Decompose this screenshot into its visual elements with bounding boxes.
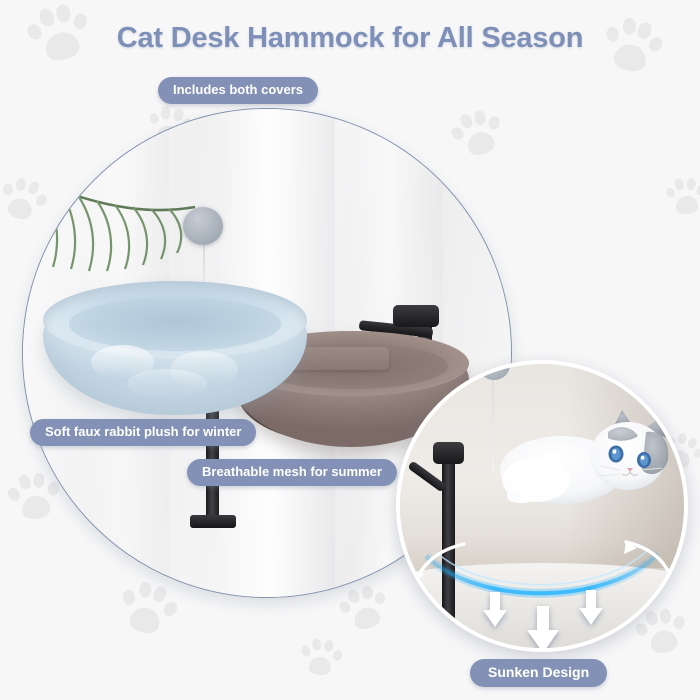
badge-sunken-design: Sunken Design xyxy=(470,659,607,687)
hammock-clamp-right xyxy=(393,305,439,327)
badge-breathable-mesh-for-summer: Breathable mesh for summer xyxy=(187,459,397,486)
hammock-post xyxy=(442,442,455,628)
fur-texture xyxy=(127,369,206,398)
page-title: Cat Desk Hammock for All Season xyxy=(0,22,700,55)
down-arrow-icon xyxy=(482,592,508,628)
hammock-clamp-base-left xyxy=(190,515,236,528)
down-arrow-icon xyxy=(526,606,560,652)
sunken-design-photo xyxy=(396,360,688,652)
pompom-toy xyxy=(183,207,223,245)
pompom-string xyxy=(492,372,494,472)
badge-includes-both-covers: Includes both covers xyxy=(158,77,318,104)
down-arrow-icon xyxy=(578,590,604,626)
badge-soft-faux-rabbit-plush-for-winter: Soft faux rabbit plush for winter xyxy=(30,419,256,446)
plush-hammock xyxy=(43,281,307,415)
paw-print-icon xyxy=(664,174,700,218)
hammock-clamp xyxy=(433,442,464,464)
product-poster: Cat Desk Hammock for All Season xyxy=(0,0,700,700)
cat-illustration xyxy=(496,408,676,516)
plush-hammock-cavity xyxy=(69,297,280,351)
paw-print-icon xyxy=(298,634,344,680)
